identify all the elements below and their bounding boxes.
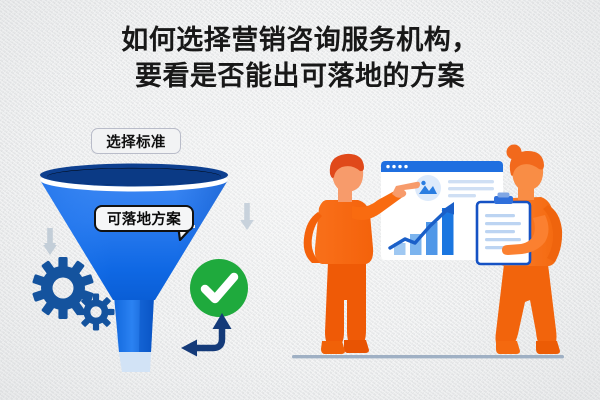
thumbnail-image-icon (415, 175, 441, 201)
solution-speech-bubble: 可落地方案 (94, 205, 194, 232)
ground-line (292, 355, 564, 358)
title-line-2: 要看是否能出可落地的方案 (0, 58, 600, 94)
analyst-hair-bun (507, 145, 522, 160)
analyst-legs (496, 264, 557, 348)
arrow-down-icon-right (240, 203, 254, 230)
criteria-label-badge: 选择标准 (91, 128, 181, 154)
infographic-canvas: 如何选择营销咨询服务机构， 要看是否能出可落地的方案 (0, 0, 600, 400)
green-check-icon (190, 259, 248, 317)
presenter-legs (325, 262, 366, 347)
title-line-1: 如何选择营销咨询服务机构， (0, 22, 600, 58)
bent-double-arrow-icon (181, 313, 232, 357)
arrow-down-icon-left (43, 228, 57, 255)
page-title: 如何选择营销咨询服务机构， 要看是否能出可落地的方案 (0, 22, 600, 94)
